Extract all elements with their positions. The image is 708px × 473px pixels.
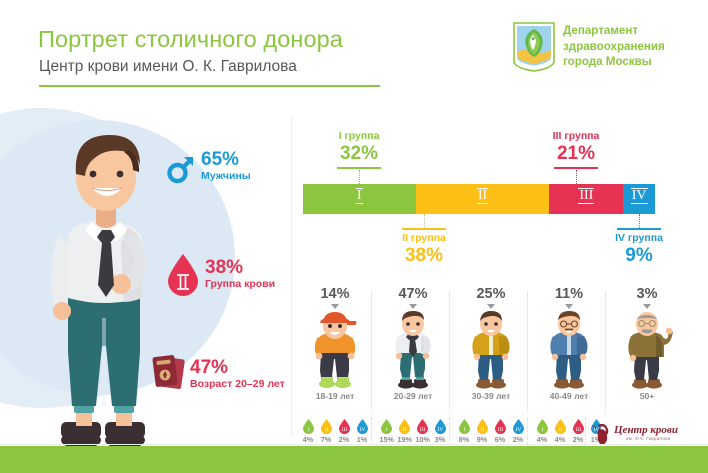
age-column-50-plus[interactable]: 3% — [608, 286, 686, 401]
drop-0-1: II7% — [320, 418, 333, 444]
age-percent-caption: Возраст 20–29 лет — [190, 378, 285, 391]
drop-3-2: III2% — [572, 418, 585, 444]
header-divider — [39, 85, 380, 87]
caret-down-icon-3 — [565, 304, 573, 309]
svg-text:IV: IV — [437, 427, 443, 433]
drop-2-0: I8% — [458, 418, 471, 444]
blood-label-ii: II группа 38% — [368, 226, 480, 267]
drop-2-3: IV2% — [512, 418, 525, 444]
drop-0-2: III2% — [338, 418, 351, 444]
male-percent-value: 65% — [201, 150, 251, 169]
blood-center-logo-text: Центр крови — [614, 424, 678, 436]
drop-1-3: IV3% — [434, 418, 447, 444]
caret-down-icon-1 — [409, 304, 417, 309]
male-percent-caption: Мужчины — [201, 170, 251, 183]
moscow-health-shield-icon — [513, 22, 555, 72]
passport-icon — [150, 352, 188, 392]
svg-text:III: III — [497, 427, 503, 433]
bar-roman-i: I — [303, 188, 416, 204]
bar-roman-iv: IV — [623, 188, 655, 204]
drop-3-0: I4% — [536, 418, 549, 444]
age-column-40-49[interactable]: 11% — [530, 286, 608, 401]
dep-line-3: города Москвы — [563, 54, 665, 70]
dep-line-1: Департамент — [563, 23, 665, 39]
blood-percent-caption: Группа крови — [205, 278, 275, 291]
blood-label-iv: IV группа 9% — [583, 226, 695, 267]
infographic-canvas: Портрет столичного донора Центр крови им… — [0, 0, 708, 473]
blood-label-i: I группа 32% — [303, 130, 415, 169]
moscow-health-department-logo: Департамент здравоохранения города Москв… — [513, 22, 699, 74]
drop-0-3: IV1% — [356, 418, 369, 444]
svg-text:I: I — [385, 427, 387, 433]
drop-group-30-39: I8% II9% III6% IV2% — [452, 418, 530, 444]
footer-hairline — [0, 444, 708, 445]
caret-down-icon-2 — [487, 304, 495, 309]
drop-1-0: I15% — [380, 418, 393, 444]
pelican-blood-center-icon — [592, 422, 614, 446]
drop-1-2: III10% — [416, 418, 429, 444]
figure-40-49 — [530, 311, 608, 389]
caret-down-icon-4 — [643, 304, 651, 309]
drop-0-0: I4% — [302, 418, 315, 444]
stat-blood-group: 38% Группа крови — [205, 258, 275, 291]
blood-drop-group-ii-icon — [166, 252, 200, 296]
bar-segment-iv[interactable]: IV — [623, 184, 655, 214]
age-percent-3: 11% — [530, 286, 608, 302]
svg-text:III: III — [575, 427, 581, 433]
mars-male-symbol-icon — [166, 154, 196, 184]
age-column-18-19[interactable]: 14% — [296, 286, 374, 401]
bar-segment-i[interactable]: I — [303, 184, 416, 214]
panel-divider — [291, 118, 292, 436]
age-distribution-chart: 14% — [296, 286, 704, 406]
svg-text:I: I — [463, 427, 465, 433]
drop-2-2: III6% — [494, 418, 507, 444]
figure-20-29 — [374, 311, 452, 389]
age-percent-2: 25% — [452, 286, 530, 302]
blood-percent-value: 38% — [205, 258, 275, 277]
blood-center-logo-subtext: им. О.К. Гаврилова — [626, 436, 671, 441]
stat-male-percentage: 65% Мужчины — [166, 150, 251, 184]
age-percent-1: 47% — [374, 286, 452, 302]
age-column-20-29[interactable]: 47% — [374, 286, 452, 401]
svg-text:IV: IV — [515, 427, 521, 433]
age-column-30-39[interactable]: 25% 30-39 ле — [452, 286, 530, 401]
tick-i — [359, 170, 360, 184]
age-label-0: 18-19 лет — [296, 391, 374, 401]
svg-text:II: II — [480, 427, 484, 433]
svg-text:II: II — [324, 427, 328, 433]
age-label-3: 40-49 лет — [530, 391, 608, 401]
blood-group-stacked-bar: I II III IV — [303, 184, 655, 214]
drop-1-1: II19% — [398, 418, 411, 444]
footer-strip — [0, 446, 708, 473]
age-percent-0: 14% — [296, 286, 374, 302]
dep-line-2: здравоохранения — [563, 39, 665, 55]
stat-age-group: 47% Возраст 20–29 лет — [190, 358, 285, 391]
age-percent-value: 47% — [190, 358, 285, 377]
figure-30-39 — [452, 311, 530, 389]
age-percent-4: 3% — [608, 286, 686, 302]
page-subtitle: Центр крови имени О. К. Гаврилова — [39, 58, 297, 76]
svg-text:I: I — [307, 427, 309, 433]
svg-text:II: II — [558, 427, 562, 433]
drop-group-20-29: I15% II19% III10% IV3% — [374, 418, 452, 444]
bar-roman-iii: III — [549, 188, 623, 204]
drop-3-1: II4% — [554, 418, 567, 444]
age-label-2: 30-39 лет — [452, 391, 530, 401]
svg-text:IV: IV — [359, 427, 365, 433]
svg-text:III: III — [419, 427, 425, 433]
drop-2-1: II9% — [476, 418, 489, 444]
male-donor-character — [32, 122, 184, 452]
svg-text:II: II — [402, 427, 406, 433]
drop-group-18-19: I4% II7% III2% IV1% — [296, 418, 374, 444]
figure-18-19 — [296, 311, 374, 389]
bar-segment-ii[interactable]: II — [416, 184, 550, 214]
bar-segment-iii[interactable]: III — [549, 184, 623, 214]
caret-down-icon-0 — [331, 304, 339, 309]
age-label-4: 50+ — [608, 391, 686, 401]
svg-text:III: III — [341, 427, 347, 433]
age-label-1: 20-29 лет — [374, 391, 452, 401]
svg-text:I: I — [541, 427, 543, 433]
department-logo-text: Департамент здравоохранения города Москв… — [563, 23, 665, 70]
bar-roman-ii: II — [416, 188, 550, 204]
page-title: Портрет столичного донора — [38, 26, 343, 53]
figure-50-plus — [608, 311, 686, 389]
blood-label-iii: III группа 21% — [520, 130, 632, 169]
tick-iii — [576, 170, 577, 184]
